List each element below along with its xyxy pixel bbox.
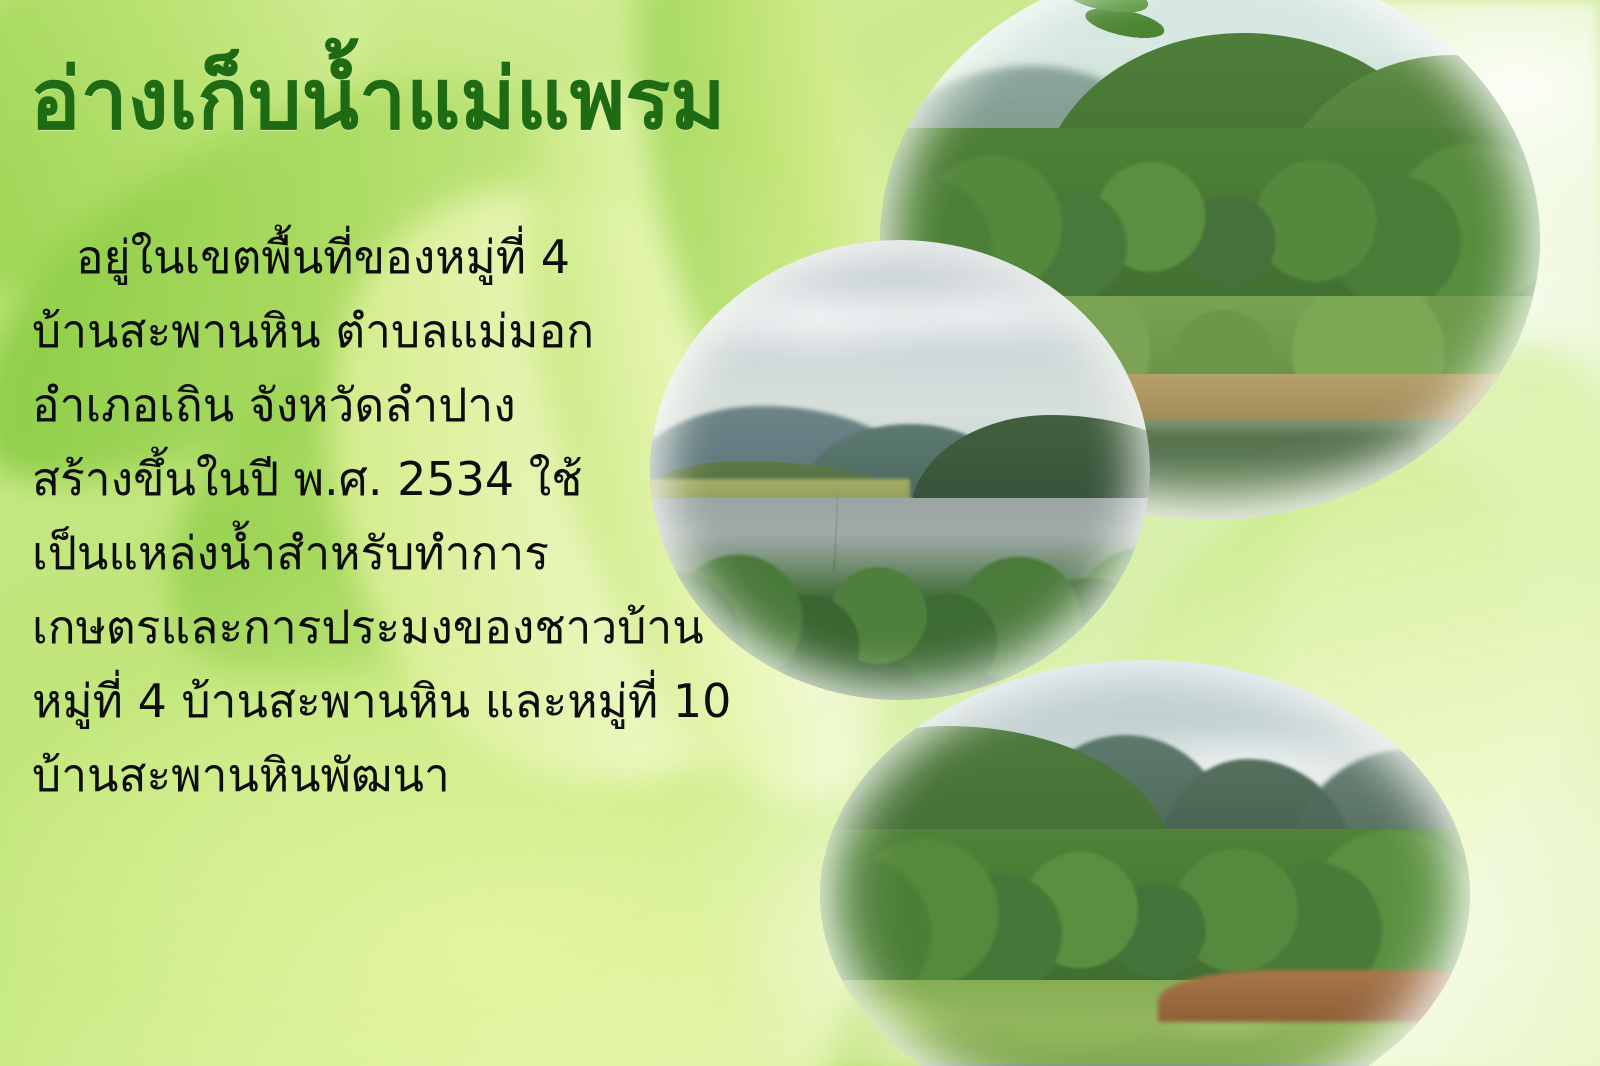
body-line: เป็นแหล่งน้ำสำหรับทำการ: [32, 516, 822, 590]
body-line: บ้านสะพานหิน ตำบลแม่มอก: [32, 294, 822, 368]
page-title: อ่างเก็บน้ำแม่แพรม: [30, 55, 726, 143]
photo-circle-bottom: [820, 660, 1470, 1066]
body-line: หมู่ที่ 4 บ้านสะพานหิน และหมู่ที่ 10: [32, 664, 822, 738]
eroded-bank: [1158, 970, 1470, 1022]
body-paragraph: อยู่ในเขตพื้นที่ของหมู่ที่ 4 บ้านสะพานหิ…: [32, 220, 822, 812]
body-line: เกษตรและการประมงของชาวบ้าน: [32, 590, 822, 664]
photo-bottom-scene: [820, 660, 1470, 1066]
body-line: สร้างขึ้นในปี พ.ศ. 2534 ใช้: [32, 442, 822, 516]
body-line: บ้านสะพานหินพัฒนา: [32, 738, 822, 812]
presentation-slide: อ่างเก็บน้ำแม่แพรม อยู่ในเขตพื้นที่ของหม…: [0, 0, 1600, 1066]
body-line: อยู่ในเขตพื้นที่ของหมู่ที่ 4: [32, 220, 822, 294]
body-line: อำเภอเถิน จังหวัดลำปาง: [32, 368, 822, 442]
